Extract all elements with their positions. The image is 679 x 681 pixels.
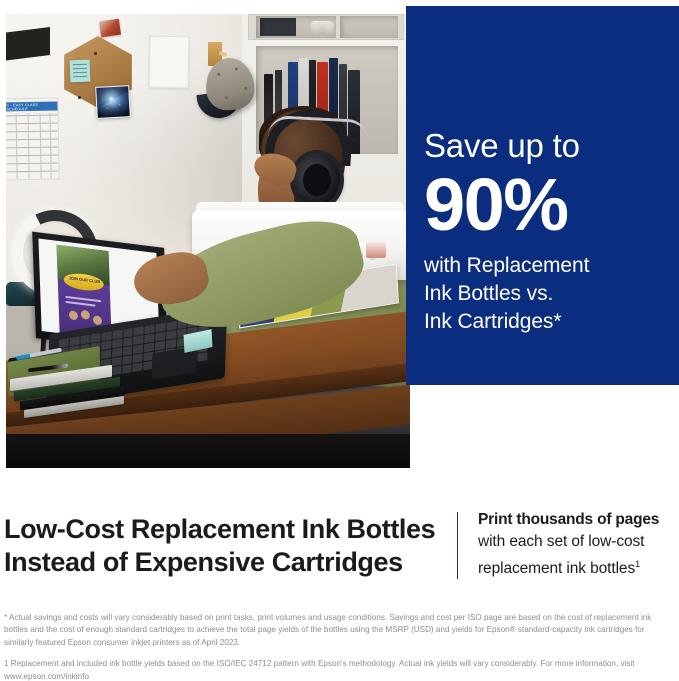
wall-dark-panel <box>6 27 50 61</box>
ink-tank-window <box>366 242 386 258</box>
promo-subtext-line-2: Ink Bottles vs. <box>424 280 674 308</box>
footnotes-section: * Actual savings and costs will vary con… <box>0 612 679 681</box>
side-callout-line-3-text: replacement ink bottles <box>478 560 635 577</box>
promo-subtext-line-1: with Replacement <box>424 252 674 280</box>
main-headline: Low-Cost Replacement Ink Bottles Instead… <box>4 513 444 579</box>
footnote-asterisk: * Actual savings and costs will vary con… <box>0 612 679 649</box>
promo-subtext: with Replacement Ink Bottles vs. Ink Car… <box>424 252 674 336</box>
shelf-cubby-b <box>340 16 398 38</box>
class-schedule-sheet: C - EASY CLASS SCHEDULE <box>6 98 60 181</box>
footnote-one: 1 Replacement and included ink bottle yi… <box>0 658 679 681</box>
lifestyle-photo: C - EASY CLASS SCHEDULE <box>6 14 410 468</box>
wall-paper <box>149 36 190 89</box>
shelf-storage-bin <box>260 18 296 36</box>
flyer-badge-text: JOIN OUR CLUB <box>69 275 101 284</box>
promo-save-label: Save up to <box>424 126 674 166</box>
schedule-title: C - EASY CLASS SCHEDULE <box>6 103 57 112</box>
floor <box>6 434 410 468</box>
advertisement-banner: C - EASY CLASS SCHEDULE <box>0 0 679 681</box>
game-controller <box>310 21 334 32</box>
vertical-divider <box>457 512 458 579</box>
headline-line-1: Low-Cost Replacement Ink Bottles <box>4 513 444 546</box>
headline-line-2: Instead of Expensive Cartridges <box>4 546 444 579</box>
concert-photo <box>95 85 131 119</box>
promo-panel: Save up to 90% with Replacement Ink Bott… <box>406 6 679 385</box>
side-callout-strong: Print thousands of pages <box>478 509 678 531</box>
sticky-note <box>70 60 91 83</box>
promo-percent: 90% <box>424 170 674 240</box>
push-pin <box>94 52 97 55</box>
side-callout: Print thousands of pages with each set o… <box>478 509 678 580</box>
side-callout-line-3: replacement ink bottles1 <box>478 553 678 580</box>
push-pin <box>78 96 81 99</box>
schedule-header: C - EASY CLASS SCHEDULE <box>6 102 58 112</box>
headphones-earcup <box>294 154 340 206</box>
lower-content: Low-Cost Replacement Ink Bottles Instead… <box>0 495 679 595</box>
promo-subtext-line-3: Ink Cartridges* <box>424 308 674 336</box>
side-callout-line-2: with each set of low-cost <box>478 531 678 553</box>
promo-text-block: Save up to 90% with Replacement Ink Bott… <box>424 126 674 336</box>
side-callout-superscript: 1 <box>635 559 640 569</box>
pinned-photo <box>99 19 121 38</box>
photo-content: C - EASY CLASS SCHEDULE <box>6 14 410 468</box>
hero-section: C - EASY CLASS SCHEDULE <box>0 0 679 480</box>
